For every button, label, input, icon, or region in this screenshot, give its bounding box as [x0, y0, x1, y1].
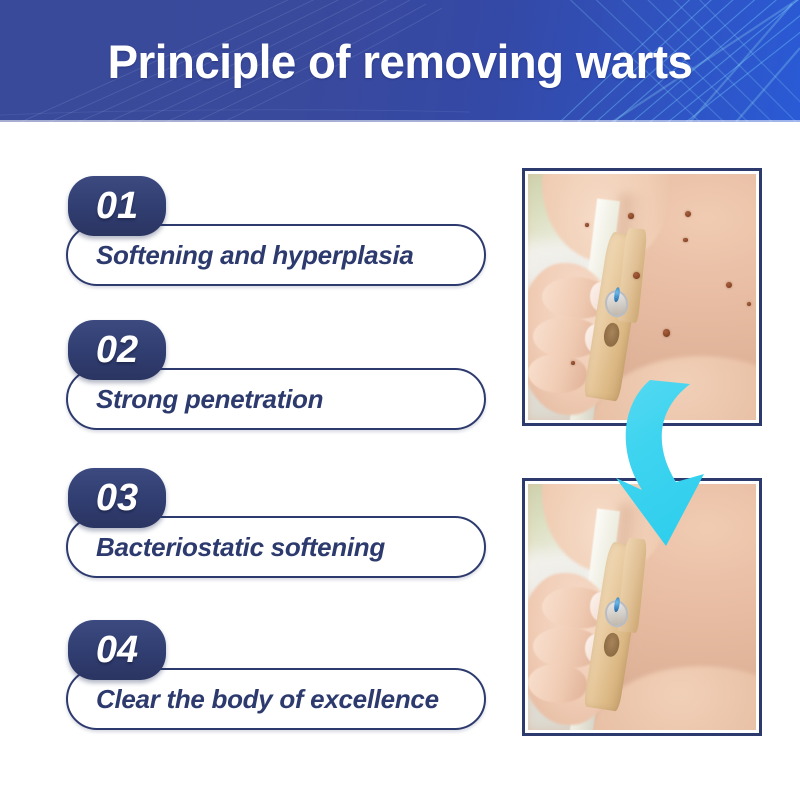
- mole: [628, 213, 633, 218]
- photo-after: [528, 484, 756, 730]
- mole: [571, 361, 575, 365]
- step-number-03: 03: [68, 468, 166, 528]
- step-item-04[interactable]: Clear the body of excellence 04: [62, 620, 492, 740]
- photo-frame-before: [522, 168, 762, 426]
- step-item-01[interactable]: Softening and hyperplasia 01: [62, 176, 492, 296]
- mole: [747, 302, 751, 306]
- mole: [683, 238, 688, 242]
- step-number-01: 01: [68, 176, 166, 236]
- mole: [663, 329, 671, 337]
- mole: [685, 211, 691, 217]
- step-badge-01: 01: [68, 176, 166, 236]
- step-badge-02: 02: [68, 320, 166, 380]
- step-item-03[interactable]: Bacteriostatic softening 03: [62, 468, 492, 588]
- photo-before: [528, 174, 756, 420]
- mole: [633, 272, 640, 279]
- photo-frame-after: [522, 478, 762, 736]
- finger-ring: [528, 664, 587, 703]
- finger-ring: [528, 354, 587, 393]
- steps-list: Softening and hyperplasia 01 Strong pene…: [0, 0, 510, 800]
- step-badge-04: 04: [68, 620, 166, 680]
- step-number-02: 02: [68, 320, 166, 380]
- poster-root: Principle of removing warts Softening an…: [0, 0, 800, 800]
- step-item-02[interactable]: Strong penetration 02: [62, 320, 492, 440]
- step-badge-03: 03: [68, 468, 166, 528]
- mole: [585, 223, 589, 226]
- step-number-04: 04: [68, 620, 166, 680]
